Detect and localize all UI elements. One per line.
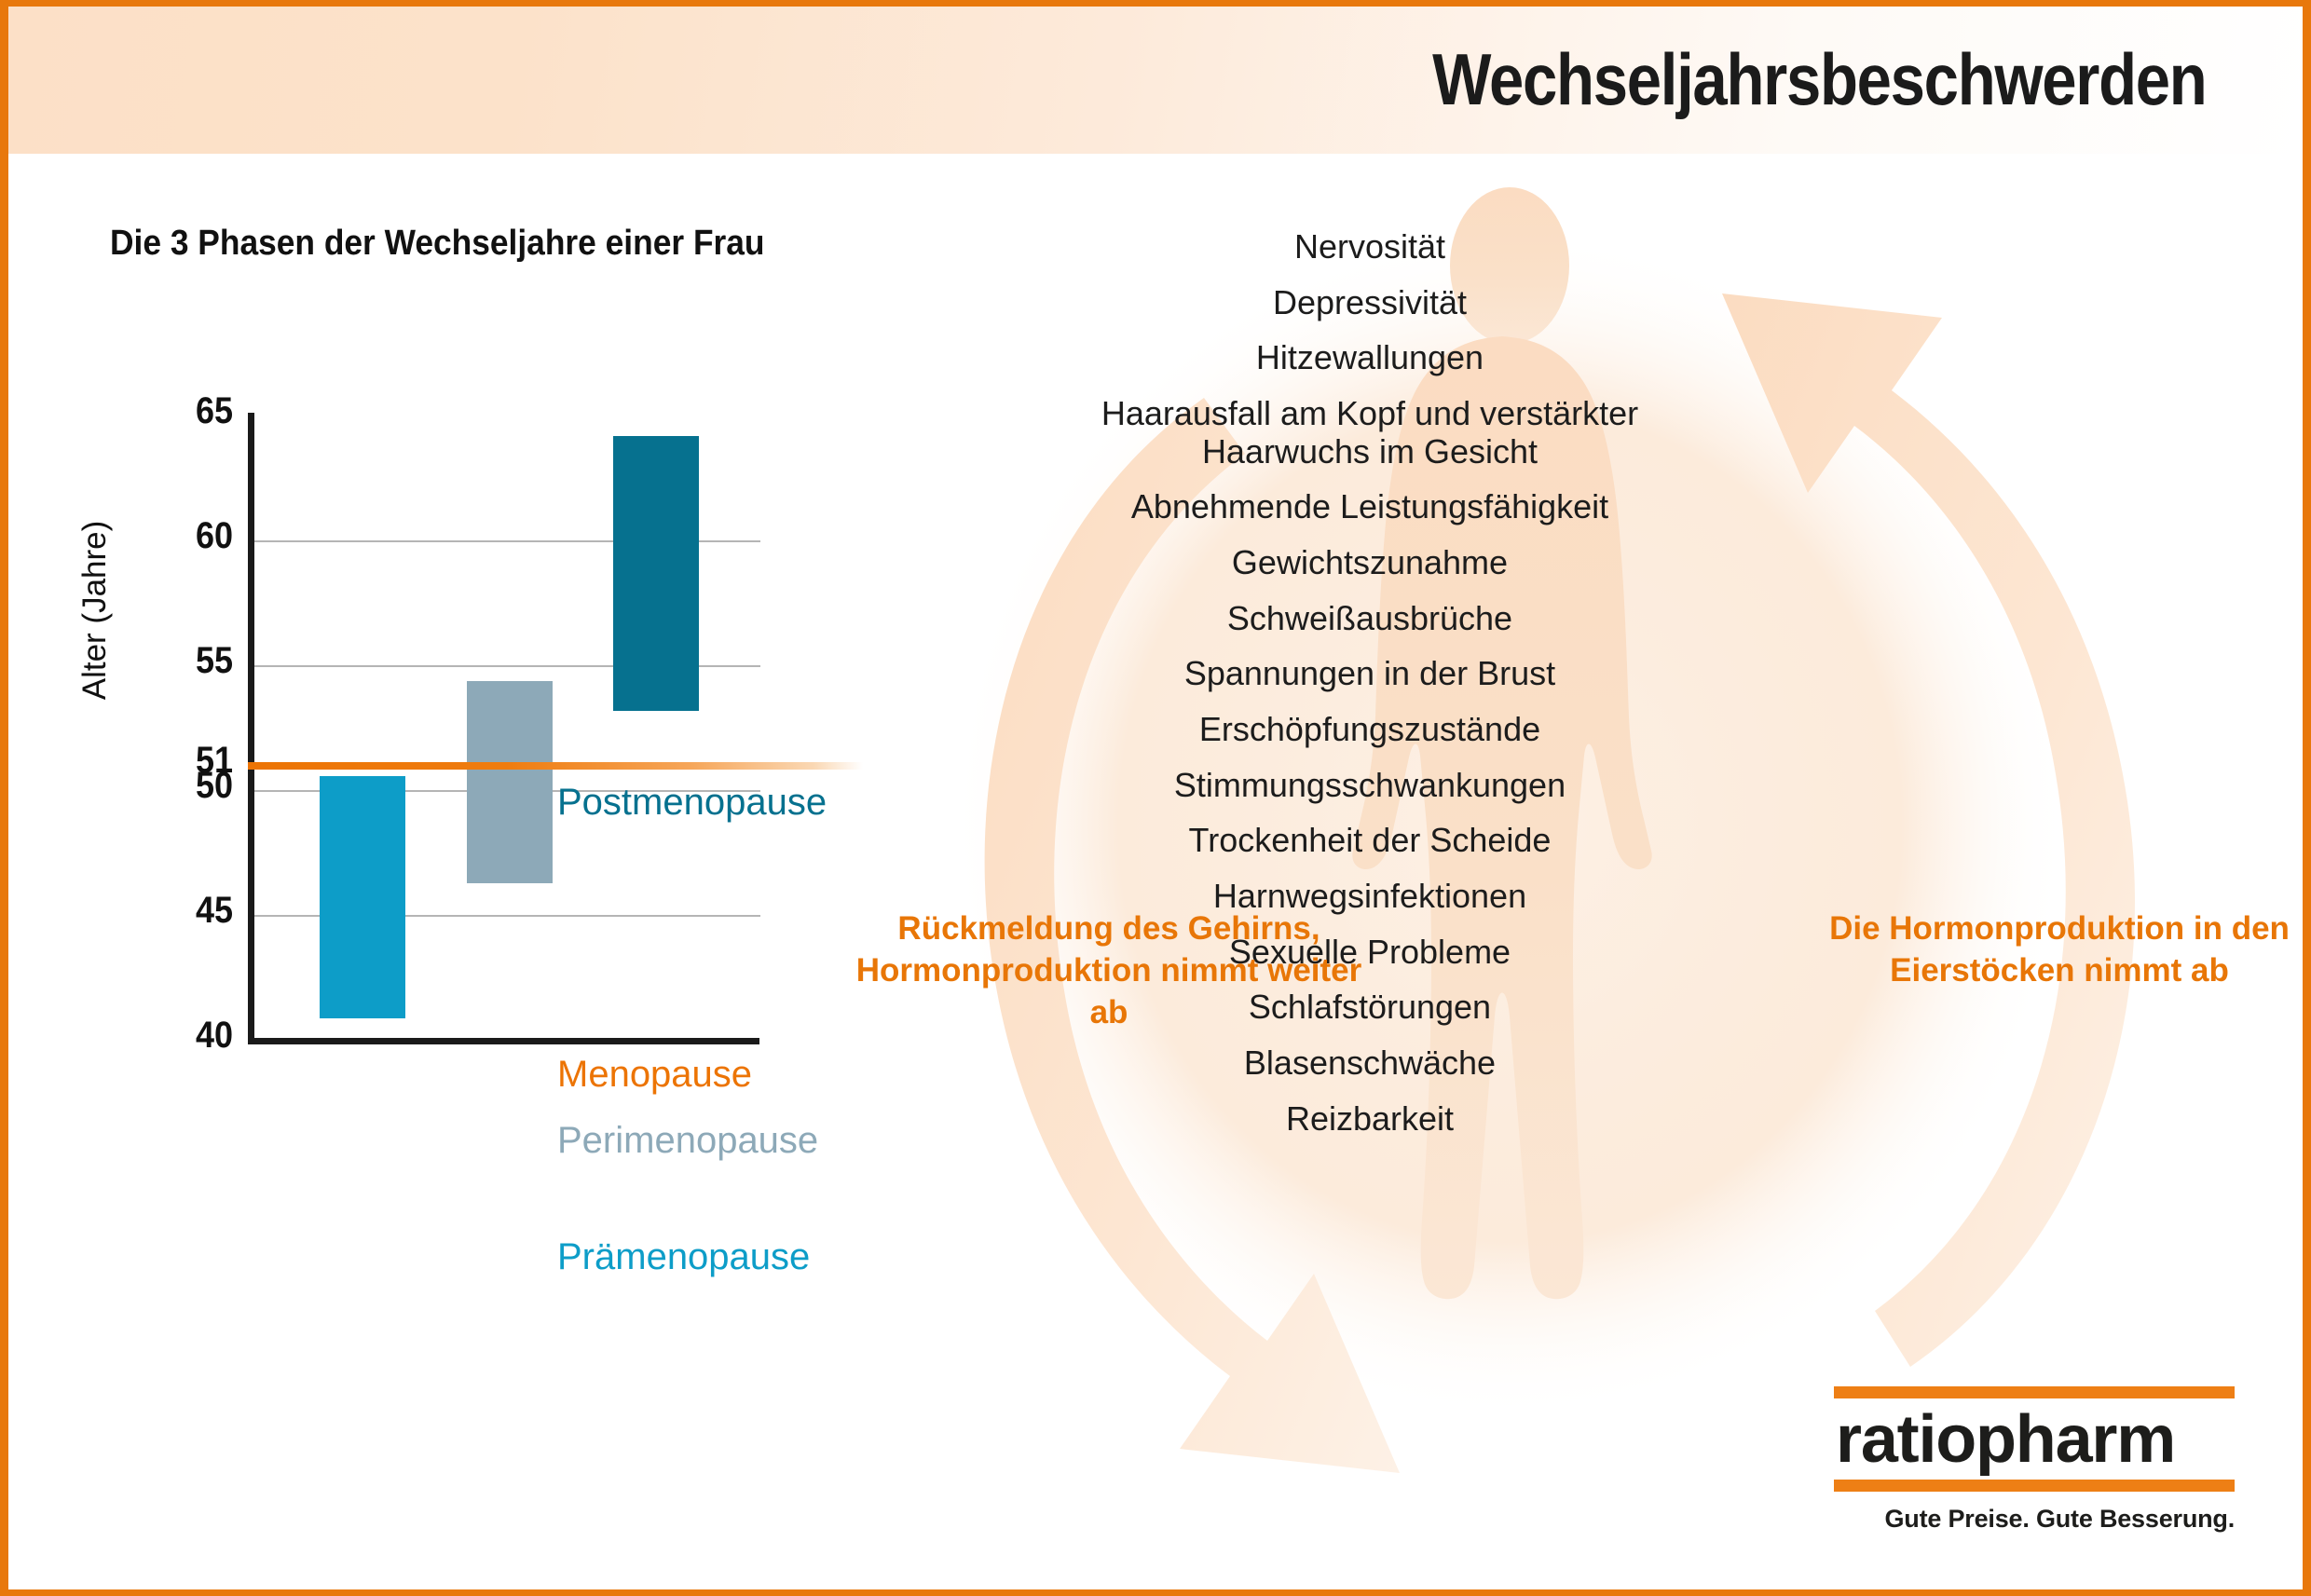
symptom-item: Hitzewallungen	[857, 339, 1882, 377]
symptom-item: Gewichtszunahme	[857, 544, 1882, 582]
y-axis-line	[248, 413, 254, 1044]
bar-postmenopause	[613, 436, 699, 711]
symptom-item: Reizbarkeit	[857, 1100, 1882, 1139]
symptom-item: Abnehmende Leistungsfähigkeit	[857, 488, 1882, 526]
y-tick-label: 40	[107, 1015, 233, 1057]
logo-bar-top	[1834, 1386, 2235, 1398]
ratiopharm-logo: ratiopharm Gute Preise. Gute Besserung.	[1834, 1386, 2235, 1534]
bar-perimenopause	[467, 681, 553, 883]
bar-prämenopause	[320, 776, 405, 1018]
page-header: Wechseljahrsbeschwerden	[8, 7, 2303, 154]
y-tick-label: 60	[107, 515, 233, 557]
menopause-reference-line	[248, 762, 863, 770]
y-tick-label: 45	[107, 890, 233, 932]
note-right-ovary-hormones: Die Hormonproduktion in den Eierstöcken …	[1817, 908, 2302, 992]
logo-wordmark: ratiopharm	[1834, 1398, 2235, 1480]
note-left-brain-feedback: Rückmeldung des Gehirns, Hormonproduktio…	[848, 908, 1370, 1033]
y-tick-label: 55	[107, 640, 233, 682]
phase-label-postmenopause: Postmenopause	[557, 782, 827, 824]
symptom-item: Schweißausbrüche	[857, 600, 1882, 638]
symptoms-panel: NervositätDepressivitätHitzewallungenHaa…	[857, 154, 2311, 1596]
logo-claim: Gute Preise. Gute Besserung.	[1834, 1492, 2235, 1534]
symptom-item: Depressivität	[857, 284, 1882, 322]
page-title: Wechseljahrsbeschwerden	[1432, 37, 2206, 122]
symptom-item: Haarausfall am Kopf und verstärkter Haar…	[1053, 395, 1687, 471]
y-tick-label: 51	[107, 740, 233, 782]
symptom-item: Nervosität	[857, 228, 1882, 266]
symptom-item: Blasenschwäche	[857, 1044, 1882, 1083]
phase-label-perimenopause: Perimenopause	[557, 1120, 818, 1162]
y-axis-ticks: 40455051556065	[93, 154, 233, 1272]
logo-bar-bottom	[1834, 1480, 2235, 1492]
symptom-item: Stimmungsschwankungen	[857, 767, 1882, 805]
symptom-item: Spannungen in der Brust	[857, 655, 1882, 693]
symptom-item: Erschöpfungszustände	[857, 711, 1882, 749]
phase-label-menopause: Menopause	[557, 1054, 752, 1096]
chart-panel: Die 3 Phasen der Wechseljahre einer Frau…	[0, 154, 857, 1596]
phase-label-praemenopause: Prämenopause	[557, 1236, 810, 1278]
y-tick-label: 65	[107, 390, 233, 432]
x-axis-line	[248, 1038, 759, 1044]
symptom-item: Trockenheit der Scheide	[857, 822, 1882, 860]
